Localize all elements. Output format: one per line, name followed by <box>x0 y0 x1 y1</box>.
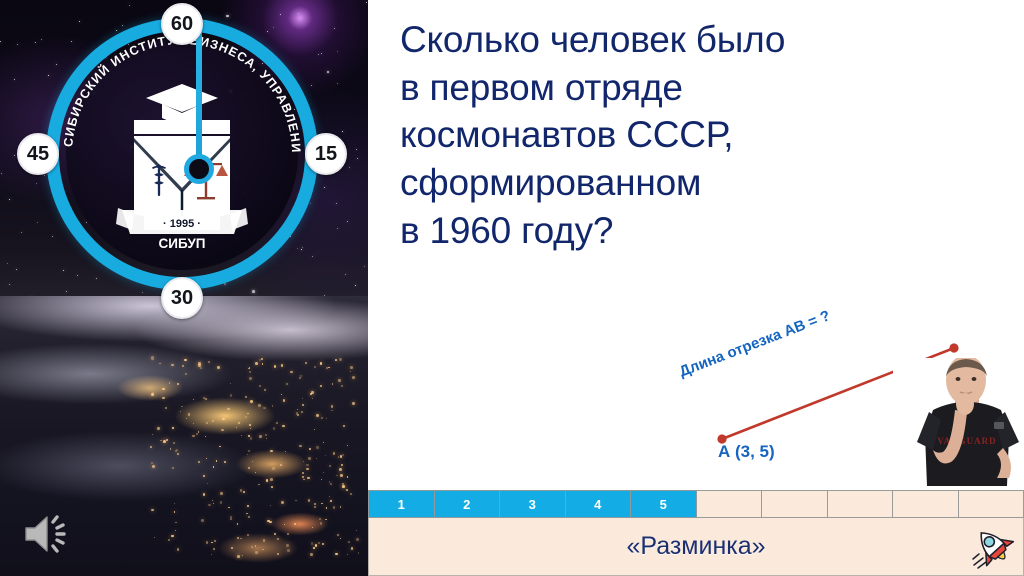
question-line-4: сформированном <box>400 159 1000 207</box>
timer-marker-60: 60 <box>161 3 203 45</box>
timer-marker-60-label: 60 <box>171 13 193 36</box>
progress-cell-7[interactable] <box>762 490 828 518</box>
timer-hub <box>184 154 214 184</box>
round-caption-strip: «Разминка» <box>368 518 1024 576</box>
bottom-bar: 12345 «Разминка» <box>368 490 1024 576</box>
timer-marker-45-label: 45 <box>27 143 49 166</box>
timer-needle <box>196 24 202 174</box>
timer-marker-45: 45 <box>17 133 59 175</box>
timer-marker-30-label: 30 <box>171 287 193 310</box>
progress-cell-2[interactable]: 2 <box>435 490 501 518</box>
emblem-year: · 1995 · <box>163 218 201 230</box>
point-a-label: А (3, 5) <box>718 442 775 462</box>
progress-cell-3[interactable]: 3 <box>500 490 566 518</box>
countdown-timer: СИБИРСКИЙ ИНСТИТУТ БИЗНЕСА, УПРАВЛЕНИЯ И… <box>18 6 348 316</box>
round-title: «Разминка» <box>626 532 765 561</box>
question-line-5: в 1960 году? <box>400 207 1000 255</box>
thinking-person-photo: VANGUARD <box>893 358 1024 491</box>
timer-marker-30: 30 <box>161 277 203 319</box>
progress-cell-8[interactable] <box>828 490 894 518</box>
timer-marker-15-label: 15 <box>315 143 337 166</box>
question-text: Сколько человек былов первом отрядекосмо… <box>400 16 1000 255</box>
question-line-3: космонавтов СССР, <box>400 111 1000 159</box>
emblem-abbrev: СИБУП <box>159 236 206 251</box>
left-space-panel: СИБИРСКИЙ ИНСТИТУТ БИЗНЕСА, УПРАВЛЕНИЯ И… <box>0 0 368 576</box>
question-line-2: в первом отряде <box>400 64 1000 112</box>
question-panel: Сколько человек былов первом отрядекосмо… <box>368 0 1024 490</box>
institute-emblem: · 1995 · СИБУП <box>114 62 250 262</box>
timer-marker-15: 15 <box>305 133 347 175</box>
progress-cell-5[interactable]: 5 <box>631 490 697 518</box>
speaker-icon[interactable] <box>20 512 76 556</box>
progress-cell-4[interactable]: 4 <box>566 490 632 518</box>
progress-cell-9[interactable] <box>893 490 959 518</box>
question-line-1: Сколько человек было <box>400 16 1000 64</box>
slide-stage: СИБИРСКИЙ ИНСТИТУТ БИЗНЕСА, УПРАВЛЕНИЯ И… <box>0 0 1024 576</box>
progress-cell-6[interactable] <box>697 490 763 518</box>
progress-cell-10[interactable] <box>959 490 1024 518</box>
question-progress-track: 12345 <box>368 490 1024 518</box>
svg-text:VANGUARD: VANGUARD <box>937 436 996 446</box>
rocket-icon[interactable] <box>971 524 1017 570</box>
point-b-dot <box>949 343 958 352</box>
progress-cell-1[interactable]: 1 <box>368 490 435 518</box>
